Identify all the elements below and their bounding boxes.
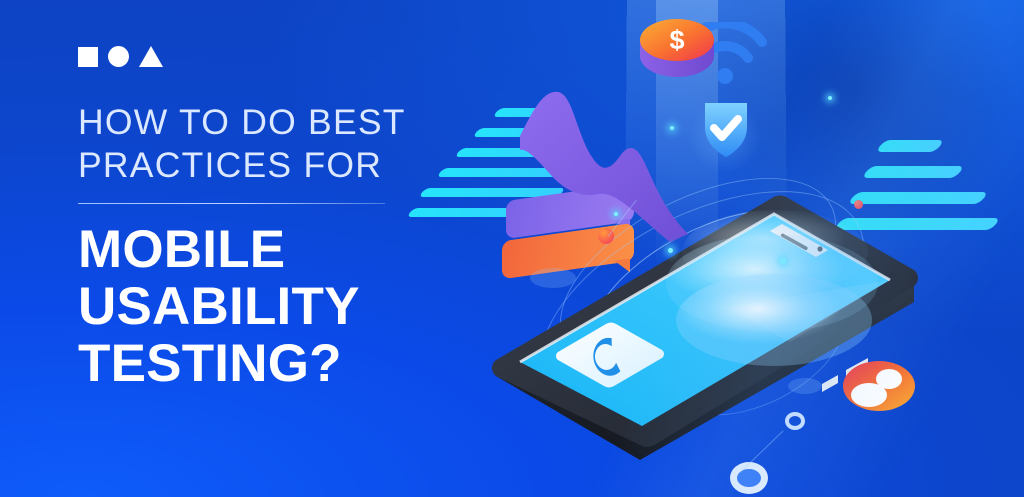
disc-base (676, 274, 872, 366)
donut-ring (730, 462, 768, 494)
call-button-icon (550, 300, 670, 396)
glow-dot (670, 126, 674, 130)
isometric-mobile-phone-scene: $ (430, 0, 1024, 497)
donut-ring-small (785, 412, 805, 430)
dollar-coin-icon: $ (638, 12, 716, 86)
page-title: Mobile usability testing? (78, 222, 438, 393)
glow-dot-2 (668, 248, 673, 253)
analytics-wave (520, 78, 770, 248)
faint-ellipse (788, 378, 822, 394)
divider (78, 203, 385, 205)
accent-dot-small (854, 200, 863, 209)
faint-ellipse-2 (530, 268, 576, 288)
glow-dot-4 (828, 96, 832, 100)
square-icon (78, 47, 98, 67)
circle-icon (108, 46, 129, 67)
users-icon (842, 358, 916, 414)
geometric-shapes-logo (78, 46, 438, 67)
svg-text:$: $ (669, 25, 684, 55)
marketing-banner: How to do best practices for Mobile usab… (0, 0, 1024, 497)
glow-dot-5 (614, 212, 618, 216)
headline-block: How to do best practices for Mobile usab… (78, 46, 438, 393)
kicker-text: How to do best practices for (78, 101, 438, 188)
glow-dot-3 (780, 258, 786, 264)
triangle-icon (139, 46, 163, 67)
